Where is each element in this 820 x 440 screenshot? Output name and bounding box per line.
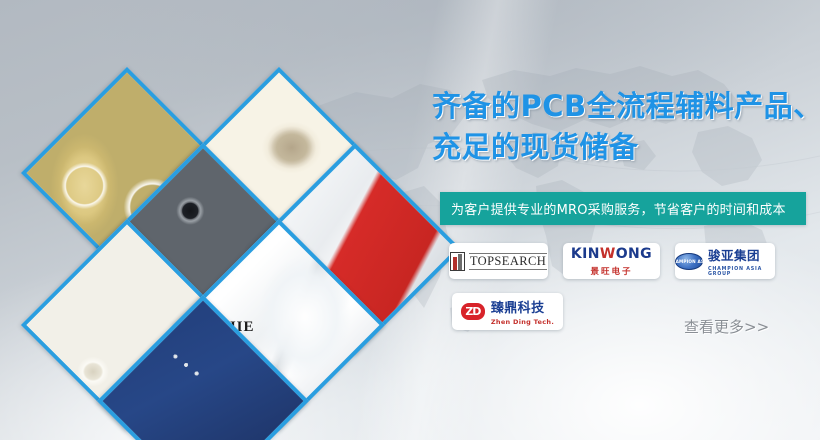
kinwong-wordmark-accent: W xyxy=(600,246,616,262)
champion-asia-globe-icon: CHAMPION ASIA xyxy=(675,253,703,270)
topsearch-mark-icon xyxy=(450,252,465,271)
headline: 齐备的PCB全流程辅料产品、 充足的现货储备 xyxy=(432,86,820,168)
zhen-ding-mark-text: ZD xyxy=(465,305,480,318)
zhen-ding-mark-icon: ZD xyxy=(461,303,485,320)
kinwong-wordmark-head: KIN xyxy=(571,246,600,262)
zhen-ding-english-name: Zhen Ding Tech. xyxy=(491,318,554,326)
headline-line-1: 齐备的PCB全流程辅料产品、 xyxy=(432,86,820,127)
kinwong-wordmark-tail: ONG xyxy=(616,246,652,262)
zhen-ding-chinese-name: 臻鼎科技 xyxy=(491,297,554,316)
promo-banner: JIE 齐备的PCB全流程辅料产品、 充足的现货储备 为客户提供专业的MRO采购… xyxy=(0,0,820,440)
client-logo-zhen-ding[interactable]: ZD 臻鼎科技 Zhen Ding Tech. xyxy=(452,293,563,330)
product-photo-collage: JIE xyxy=(0,0,420,440)
champion-asia-chinese-name: 骏亚集团 xyxy=(708,245,775,264)
subtitle-bar: 为客户提供专业的MRO采购服务，节省客户的时间和成本 xyxy=(440,192,806,225)
champion-asia-english-name: CHAMPION ASIA GROUP xyxy=(708,267,775,277)
client-logo-topsearch[interactable]: TOPSEARCH xyxy=(449,243,548,279)
subtitle-text: 为客户提供专业的MRO采购服务，节省客户的时间和成本 xyxy=(440,199,786,218)
headline-line-2: 充足的现货储备 xyxy=(432,127,820,168)
champion-asia-globe-text: CHAMPION ASIA xyxy=(675,259,709,264)
kinwong-wordmark: KINWONG xyxy=(571,246,652,262)
client-logo-kinwong[interactable]: KINWONG 景旺电子 xyxy=(563,243,660,279)
topsearch-wordmark: TOPSEARCH xyxy=(469,253,547,270)
client-logo-champion-asia[interactable]: CHAMPION ASIA 骏亚集团 CHAMPION ASIA GROUP xyxy=(675,243,775,279)
kinwong-chinese-name: 景旺电子 xyxy=(571,265,652,277)
view-more-link[interactable]: 查看更多>> xyxy=(684,316,769,337)
